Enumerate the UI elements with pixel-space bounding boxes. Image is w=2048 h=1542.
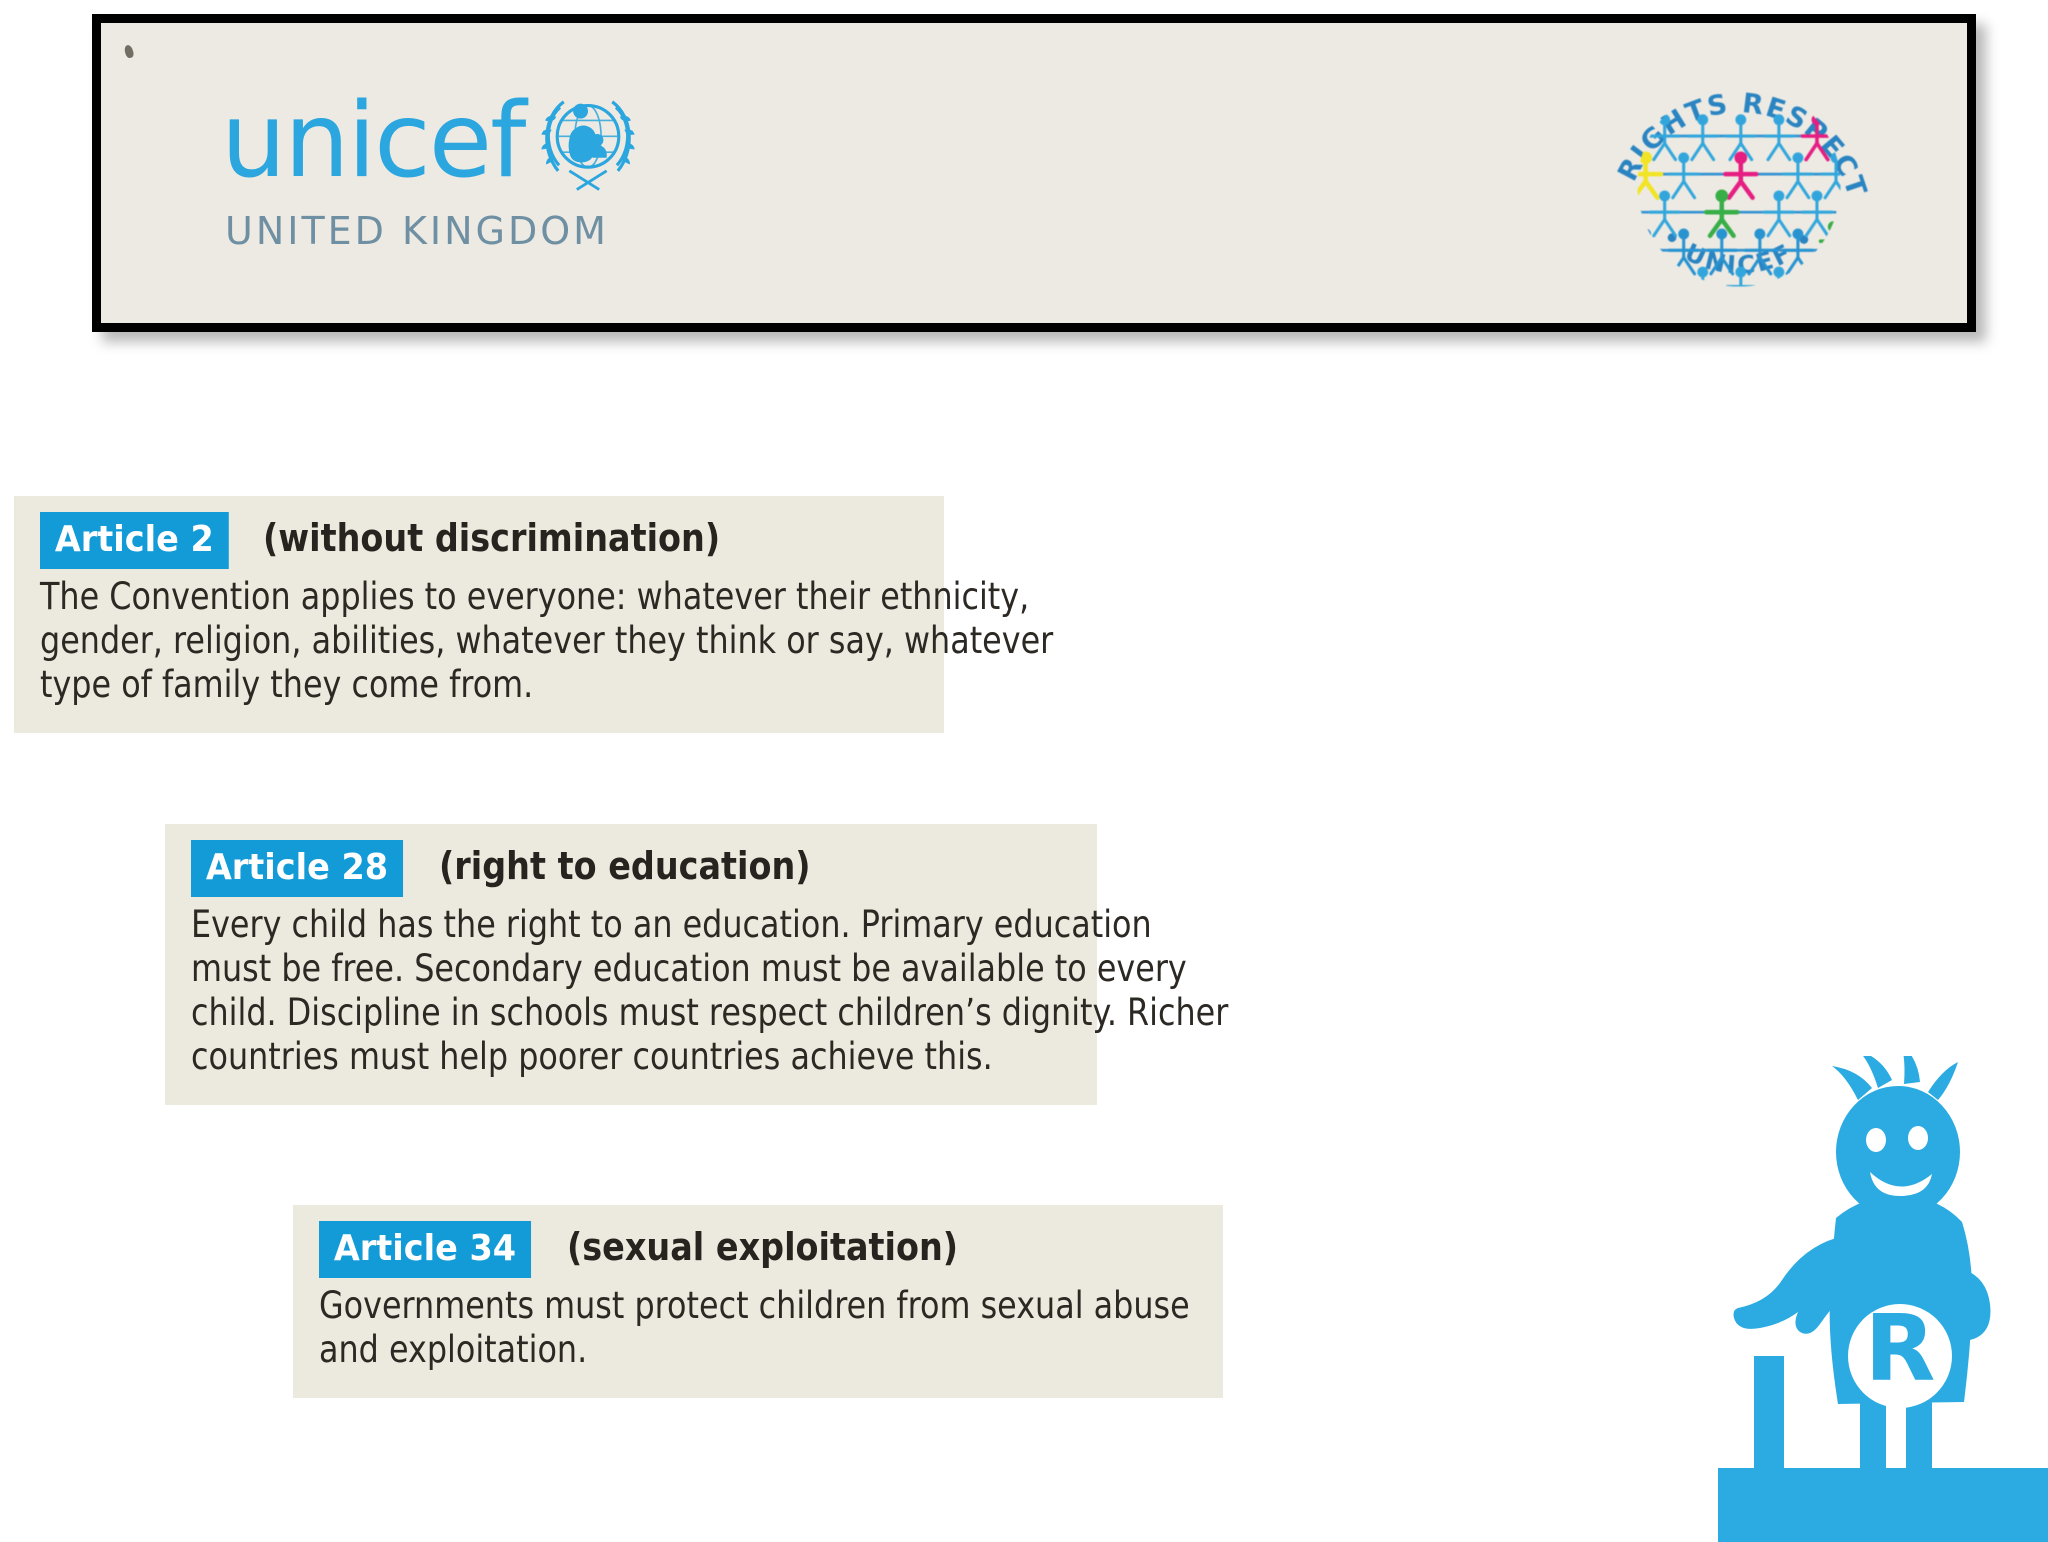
article-header: Article 2 (without discrimination) [40, 512, 918, 569]
unicef-subtitle-text: UNITED KINGDOM [225, 209, 821, 253]
rights-respecting-school-badge-icon: RIGHTS RESPECTING SCHOOL • UNICEF • [1603, 49, 1875, 321]
unicef-wordmark-row: unicef [221, 85, 821, 197]
article-body-text: Every child has the right to an educatio… [191, 903, 1069, 1079]
corner-speck-icon [123, 44, 134, 59]
unicef-uk-logo: unicef [221, 85, 821, 253]
rights-respecting-mascot-icon: R [1718, 1056, 2048, 1542]
header-logo-panel: unicef [92, 14, 1976, 332]
article-card: Article 28 (right to education) Every ch… [165, 824, 1097, 1105]
article-topic-label: (without discrimination) [263, 516, 720, 560]
article-card: Article 34 (sexual exploitation) Governm… [293, 1205, 1223, 1398]
article-topic-label: (right to education) [439, 844, 811, 888]
unicef-wordmark-text: unicef [221, 90, 524, 193]
article-body-line: child. Discipline in schools must respec… [191, 991, 1069, 1035]
article-topic-label: (sexual exploitation) [567, 1225, 958, 1269]
mascot-eye-right [1908, 1126, 1928, 1150]
article-body-line: type of family they come from. [40, 663, 916, 707]
article-body-line: Governments must protect children from s… [319, 1284, 1195, 1328]
article-number-badge: Article 34 [319, 1221, 531, 1278]
article-body-line: must be free. Secondary education must b… [191, 947, 1069, 991]
article-card: Article 2 (without discrimination) The C… [14, 496, 944, 733]
article-body-line: The Convention applies to everyone: what… [40, 575, 916, 619]
article-header: Article 28 (right to education) [191, 840, 1071, 897]
article-body-line: countries must help poorer countries ach… [191, 1035, 1069, 1079]
mascot-eye-left [1866, 1128, 1886, 1152]
article-body-line: gender, religion, abilities, whatever th… [40, 619, 916, 663]
article-body-text: The Convention applies to everyone: what… [40, 575, 916, 707]
mascot-chest-letter: R [1865, 1295, 1936, 1402]
article-number-badge: Article 28 [191, 840, 403, 897]
article-number-badge: Article 2 [40, 512, 229, 569]
unicef-globe-emblem-icon [532, 85, 644, 197]
article-body-line: and exploitation. [319, 1328, 1195, 1372]
article-header: Article 34 (sexual exploitation) [319, 1221, 1197, 1278]
article-body-text: Governments must protect children from s… [319, 1284, 1195, 1372]
article-body-line: Every child has the right to an educatio… [191, 903, 1069, 947]
